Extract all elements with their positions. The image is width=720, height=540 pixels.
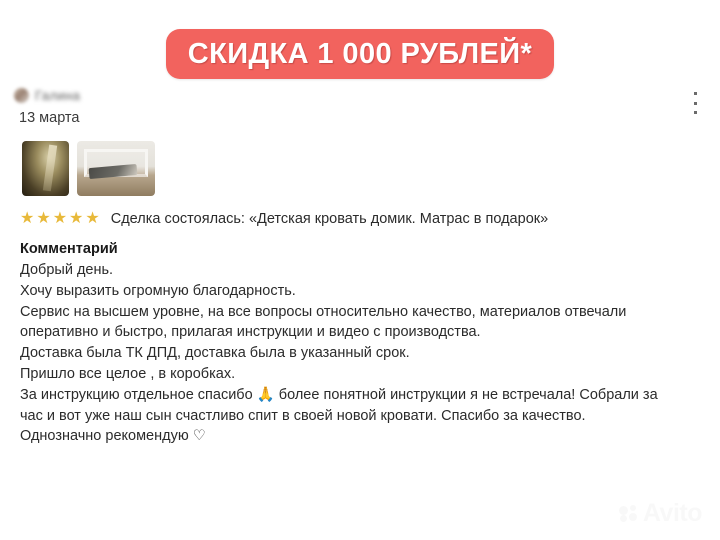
comment-heading: Комментарий [20,241,705,257]
deal-title: Сделка состоялась: «Детская кровать доми… [111,211,548,227]
logo-dot [629,513,637,521]
avito-watermark: Avito [619,501,702,526]
comment-line-recommend: Однозначно рекомендую ♡ [20,426,705,447]
comment-line: час и вот уже наш сын счастливо спит в с… [20,406,705,427]
rating-row: ★★★★★ Сделка состоялась: «Детская кроват… [20,211,548,227]
comment-text-after-emoji: более понятной инструкции я не встречала… [275,387,658,403]
review-photo-strip [22,141,155,196]
promo-banner: СКИДКА 1 000 РУБЛЕЙ* [166,29,554,79]
author-name: Галина [35,88,80,103]
logo-dot [619,506,628,515]
rating-stars-icon: ★★★★★ [20,211,102,227]
logo-dot [630,505,636,511]
comment-section: Комментарий Добрый день. Хочу выразить о… [20,241,705,447]
logo-dot [620,515,627,522]
comment-line: Добрый день. [20,260,705,281]
comment-text-before-emoji: За инструкцию отдельное спасибо [20,387,257,403]
comment-line: Сервис на высшем уровне, на все вопросы … [20,302,705,323]
kebab-dot [694,102,697,105]
avatar [14,88,29,103]
comment-line-thanks: За инструкцию отдельное спасибо 🙏 более … [20,385,705,406]
review-photo-thumbnail[interactable] [77,141,155,196]
comment-line: оперативно и быстро, прилагая инструкции… [20,322,705,343]
promo-banner-text: СКИДКА 1 000 РУБЛЕЙ* [188,40,532,69]
more-options-icon[interactable] [686,90,704,116]
recommend-text: Однозначно рекомендую [20,428,193,444]
comment-line: Пришло все целое , в коробках. [20,364,705,385]
kebab-dot [694,111,697,114]
heart-outline-icon: ♡ [193,428,206,444]
review-photo-thumbnail[interactable] [22,141,69,196]
kebab-dot [694,92,697,95]
avito-logo-icon [619,505,639,523]
avito-wordmark: Avito [643,501,702,526]
review-author-header: Галина [14,88,80,103]
comment-line: Доставка была ТК ДПД, доставка была в ук… [20,343,705,364]
comment-line: Хочу выразить огромную благодарность. [20,281,705,302]
praying-hands-icon: 🙏 [257,387,275,403]
review-date: 13 марта [19,110,79,126]
